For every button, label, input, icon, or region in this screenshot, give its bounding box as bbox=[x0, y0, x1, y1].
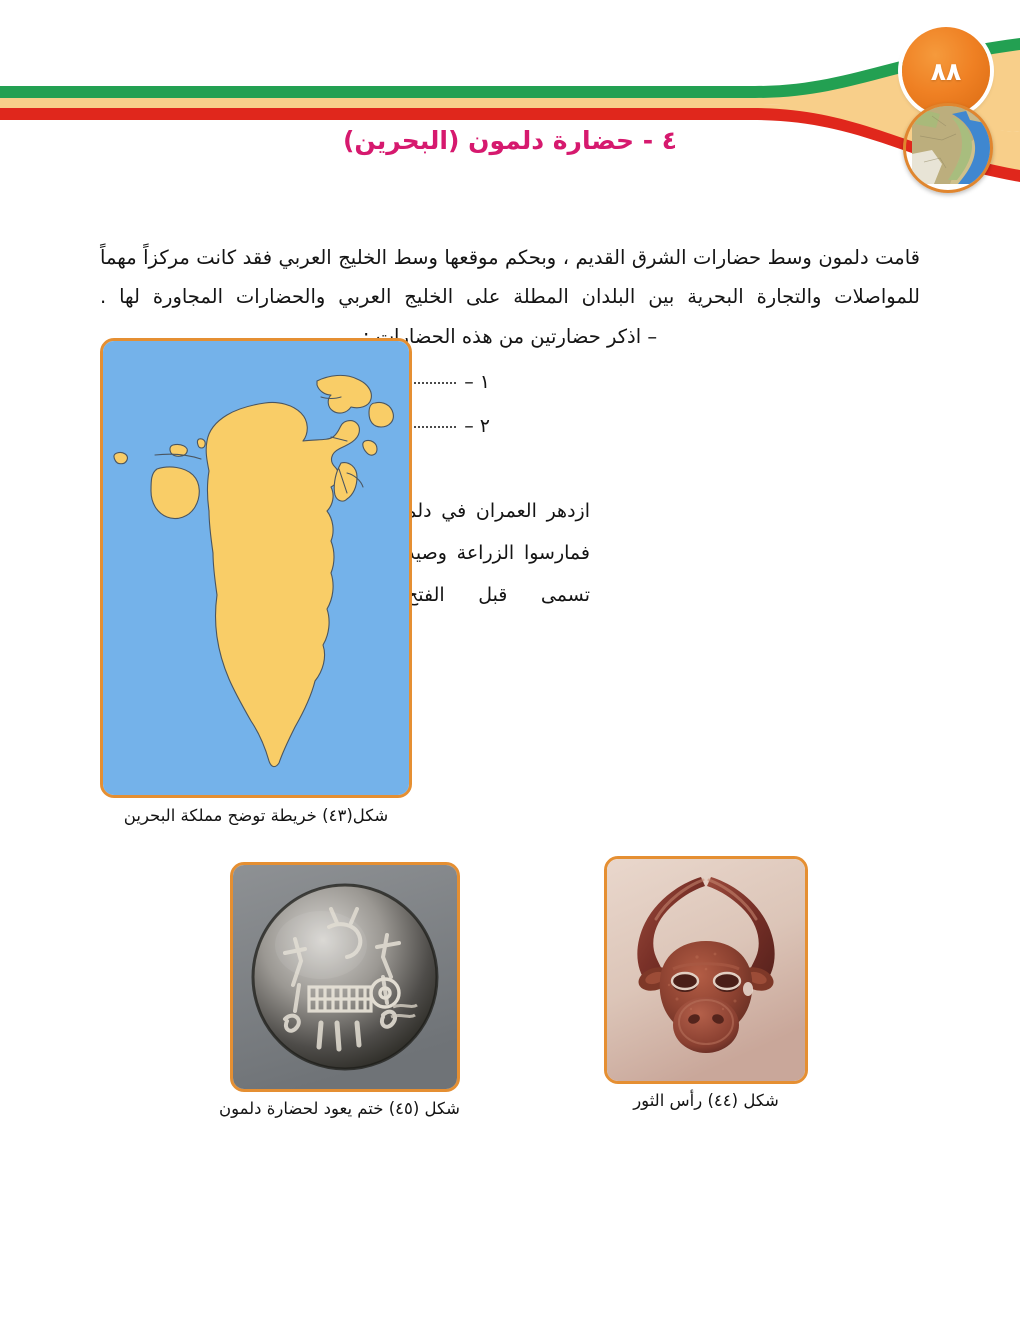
header-banner bbox=[0, 0, 1020, 200]
page-number-text: ٨٨ bbox=[931, 59, 962, 84]
figure-bull-frame bbox=[604, 856, 808, 1084]
page-title-text: ٤ - حضارة دلمون (البحرين) bbox=[343, 126, 677, 155]
figure-bull-head: شكل (٤٤) رأس الثور bbox=[604, 856, 808, 1110]
figure-bull-caption: شكل (٤٤) رأس الثور bbox=[604, 1091, 808, 1110]
figure-dilmun-seal: شكل (٤٥) ختم يعود لحضارة دلمون bbox=[230, 862, 460, 1118]
intro-paragraph: قامت دلمون وسط حضارات الشرق القديم ، وبح… bbox=[100, 238, 920, 318]
figure-map-caption: شكل(٤٣) خريطة توضح مملكة البحرين bbox=[100, 806, 412, 825]
dilmun-seal-icon bbox=[233, 865, 457, 1089]
figure-map-frame bbox=[100, 338, 412, 798]
answer-index-1: ١ – bbox=[456, 371, 490, 393]
page-title: ٤ - حضارة دلمون (البحرين) bbox=[0, 126, 1020, 155]
answer-index-2: ٢ – bbox=[456, 415, 490, 437]
figure-seal-caption: شكل (٤٥) ختم يعود لحضارة دلمون bbox=[230, 1099, 460, 1118]
page-number-badge: ٨٨ bbox=[902, 27, 990, 115]
bahrain-map-icon bbox=[103, 341, 409, 795]
figure-seal-frame bbox=[230, 862, 460, 1092]
bull-head-icon bbox=[607, 859, 805, 1081]
figure-bahrain-map: شكل(٤٣) خريطة توضح مملكة البحرين bbox=[100, 338, 412, 825]
